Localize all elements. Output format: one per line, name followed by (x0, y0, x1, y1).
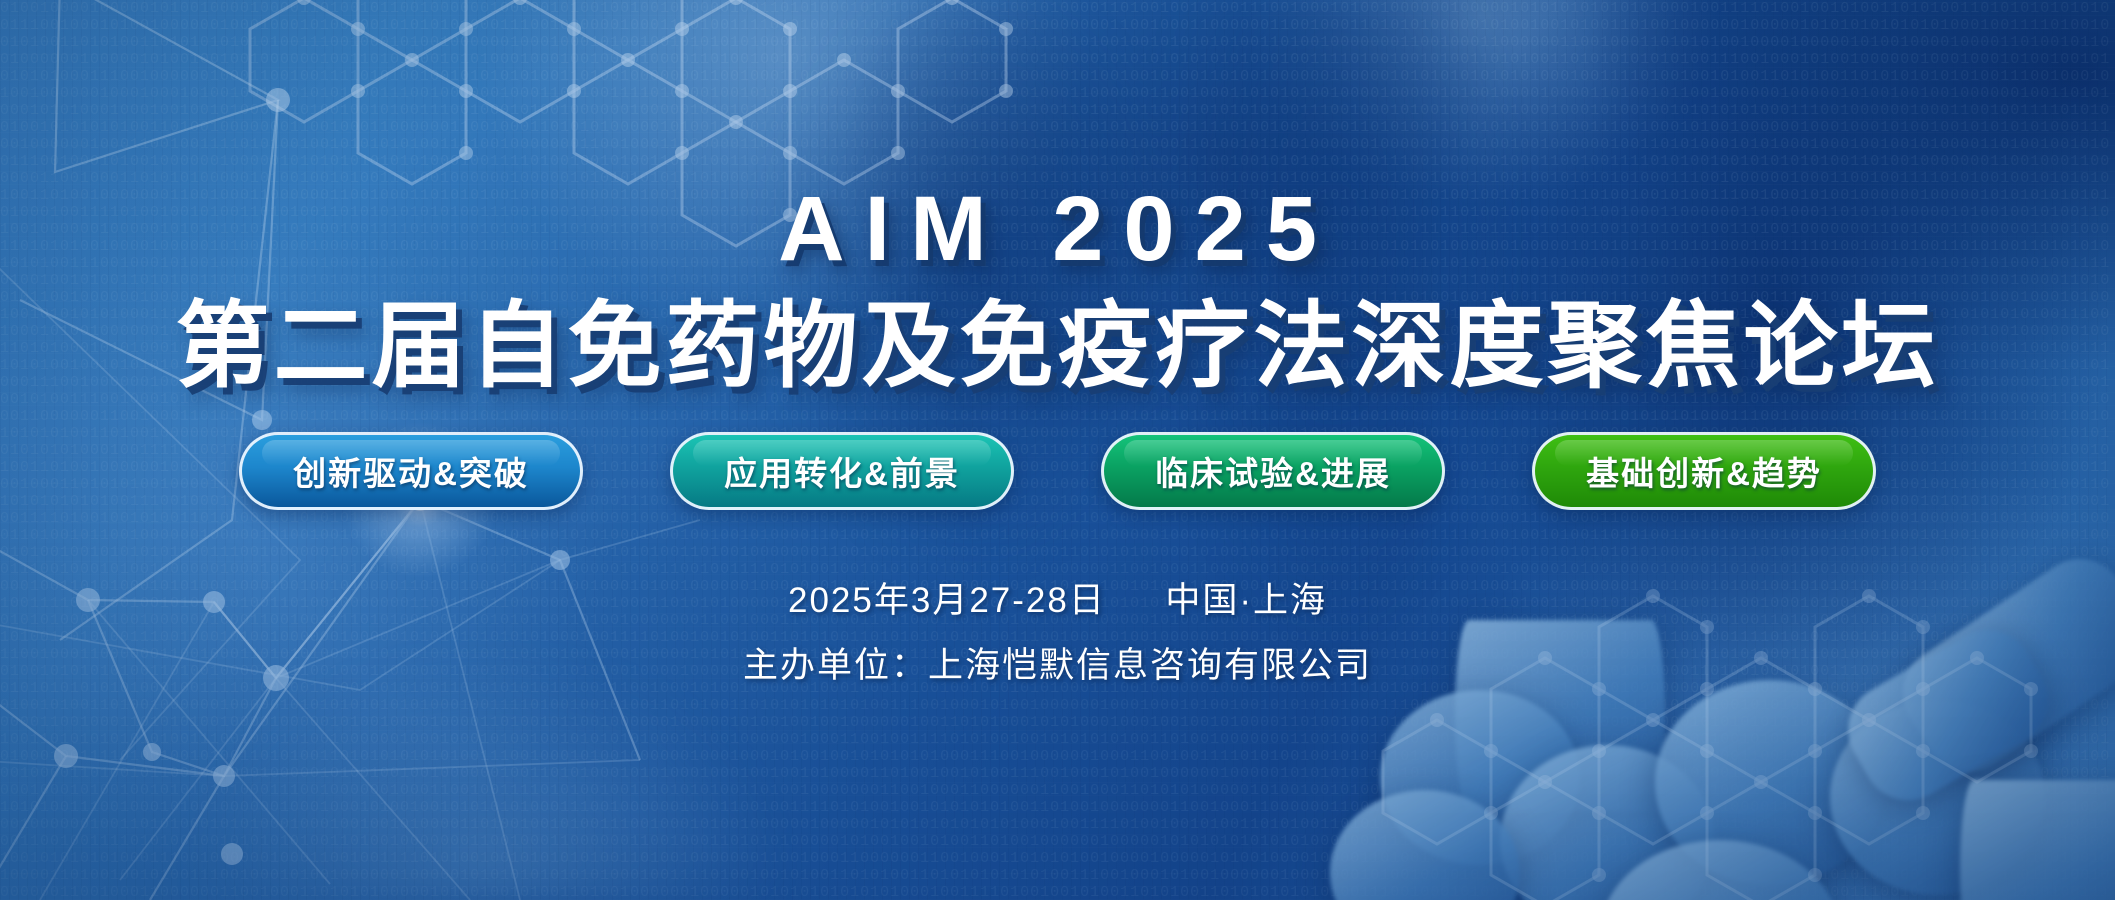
topic-badge-fundamental[interactable]: 基础创新&趋势 (1532, 432, 1876, 510)
topic-badge-label: 创新驱动&突破 (293, 447, 529, 495)
topic-badge-label: 应用转化&前景 (724, 447, 960, 495)
event-location: 中国·上海 (1165, 581, 1327, 620)
event-organizer: 主办单位：上海恺默信息咨询有限公司 (743, 637, 1372, 688)
topic-badge-label: 基础创新&趋势 (1586, 447, 1822, 495)
topic-badge-row: 创新驱动&突破 应用转化&前景 临床试验&进展 基础创新&趋势 (239, 432, 1876, 510)
page-title-english: AIM 2025 (778, 183, 1337, 275)
topic-badge-label: 临床试验&进展 (1155, 447, 1391, 495)
topic-badge-clinical[interactable]: 临床试验&进展 (1101, 432, 1445, 510)
event-meta: 2025年3月27-28日 中国·上海 主办单位：上海恺默信息咨询有限公司 (743, 572, 1372, 688)
topic-badge-translation[interactable]: 应用转化&前景 (670, 432, 1014, 510)
event-date-location: 2025年3月27-28日 中国·上海 (788, 572, 1327, 623)
event-date: 2025年3月27-28日 (788, 581, 1106, 620)
banner-content: AIM 2025 第二届自免药物及免疫疗法深度聚焦论坛 创新驱动&突破 应用转化… (0, 0, 2115, 900)
topic-badge-innovation[interactable]: 创新驱动&突破 (239, 432, 583, 510)
conference-banner: 0100100001000001010010000100001101001011… (0, 0, 2115, 900)
page-title-chinese: 第二届自免药物及免疫疗法深度聚焦论坛 (175, 297, 1939, 396)
